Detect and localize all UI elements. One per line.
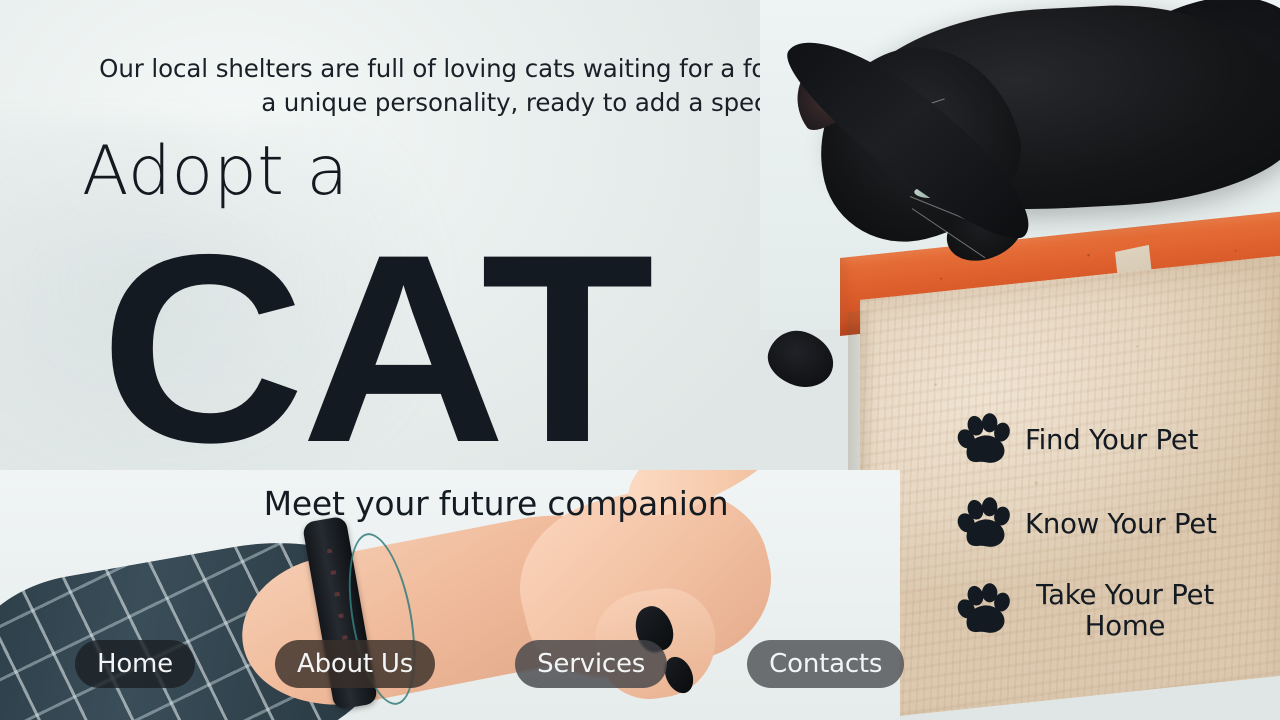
black-cat bbox=[760, 0, 1280, 430]
cat-paw bbox=[761, 323, 840, 395]
nav-item-about-us[interactable]: About Us bbox=[275, 640, 435, 688]
feature-label: Take Your Pet Home bbox=[1025, 580, 1225, 643]
poster-canvas: Adopt a CAT Our local shelters are full … bbox=[0, 0, 1280, 720]
paw-icon bbox=[955, 582, 1013, 640]
heading-small: Adopt a bbox=[82, 138, 349, 206]
feature-label: Find Your Pet bbox=[1025, 425, 1198, 456]
feature-label: Know Your Pet bbox=[1025, 509, 1217, 540]
nav-item-contacts[interactable]: Contacts bbox=[747, 640, 904, 688]
feature-list: Find Your Pet Know Your Pet bbox=[955, 412, 1265, 643]
feature-item[interactable]: Know Your Pet bbox=[955, 496, 1265, 554]
nav-item-home[interactable]: Home bbox=[75, 640, 195, 688]
feature-item[interactable]: Find Your Pet bbox=[955, 412, 1265, 470]
paw-icon bbox=[955, 412, 1013, 470]
main-navigation: Home About Us Services Contacts bbox=[0, 640, 1280, 688]
subtitle-text: Meet your future companion bbox=[0, 484, 992, 523]
nav-item-services[interactable]: Services bbox=[515, 640, 667, 688]
heading-large: CAT bbox=[100, 214, 650, 482]
feature-item[interactable]: Take Your Pet Home bbox=[955, 580, 1265, 643]
